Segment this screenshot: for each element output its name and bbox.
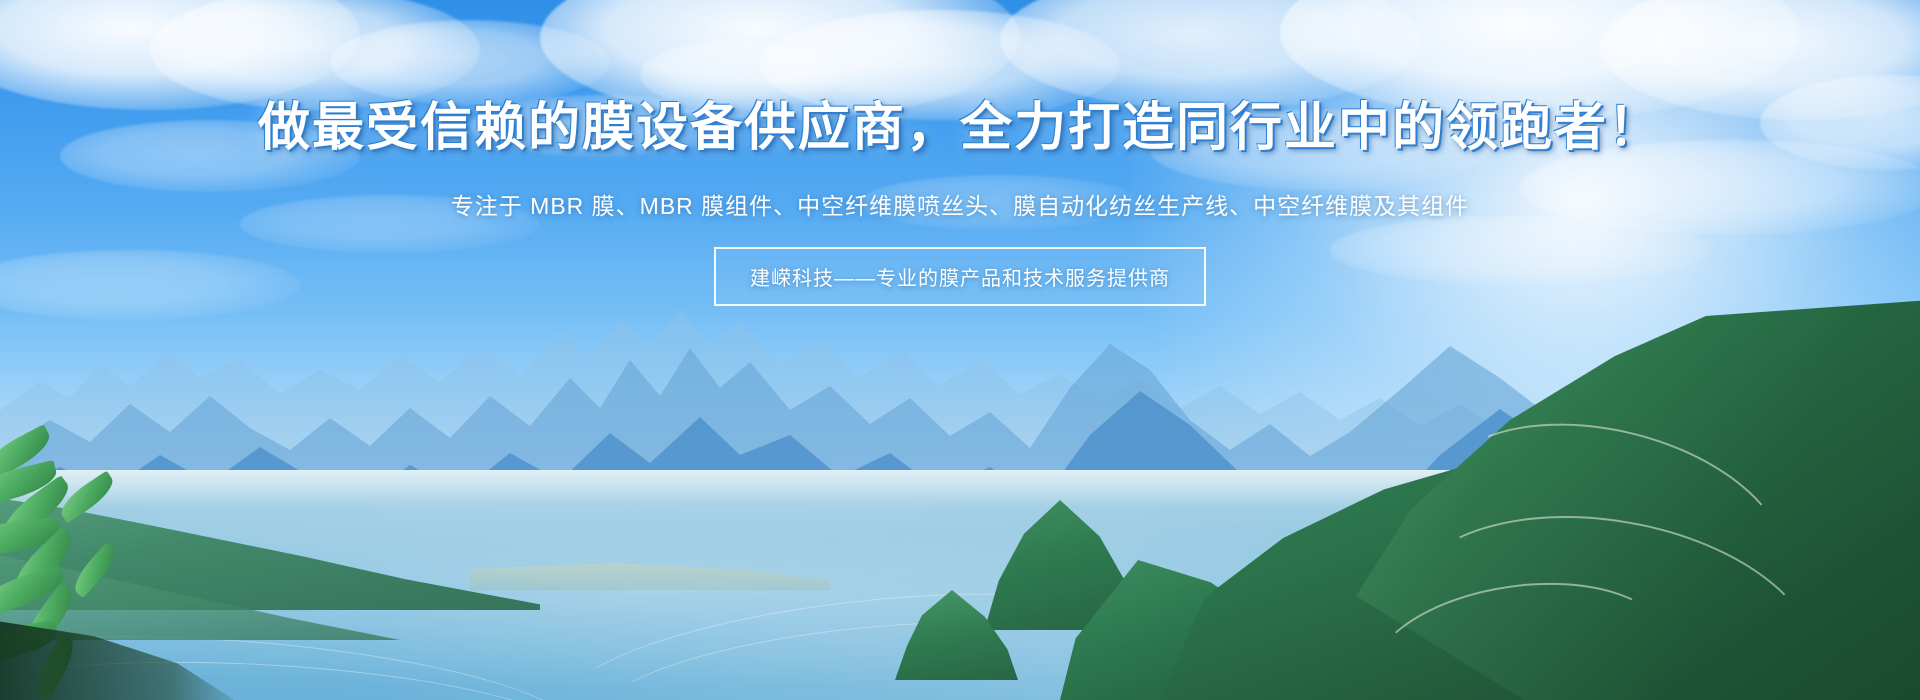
hero-banner: 做最受信赖的膜设备供应商，全力打造同行业中的领跑者！ 专注于 MBR 膜、MBR… <box>0 0 1920 700</box>
banner-headline: 做最受信赖的膜设备供应商，全力打造同行业中的领跑者！ <box>258 100 1662 157</box>
tagline-text: 建嵘科技——专业的膜产品和技术服务提供商 <box>750 268 1170 290</box>
banner-subtitle: 专注于 MBR 膜、MBR 膜组件、中空纤维膜喷丝头、膜自动化纺丝生产线、中空纤… <box>451 187 1469 221</box>
lake-water <box>0 470 1920 700</box>
tagline-box: 建嵘科技——专业的膜产品和技术服务提供商 <box>714 247 1206 306</box>
